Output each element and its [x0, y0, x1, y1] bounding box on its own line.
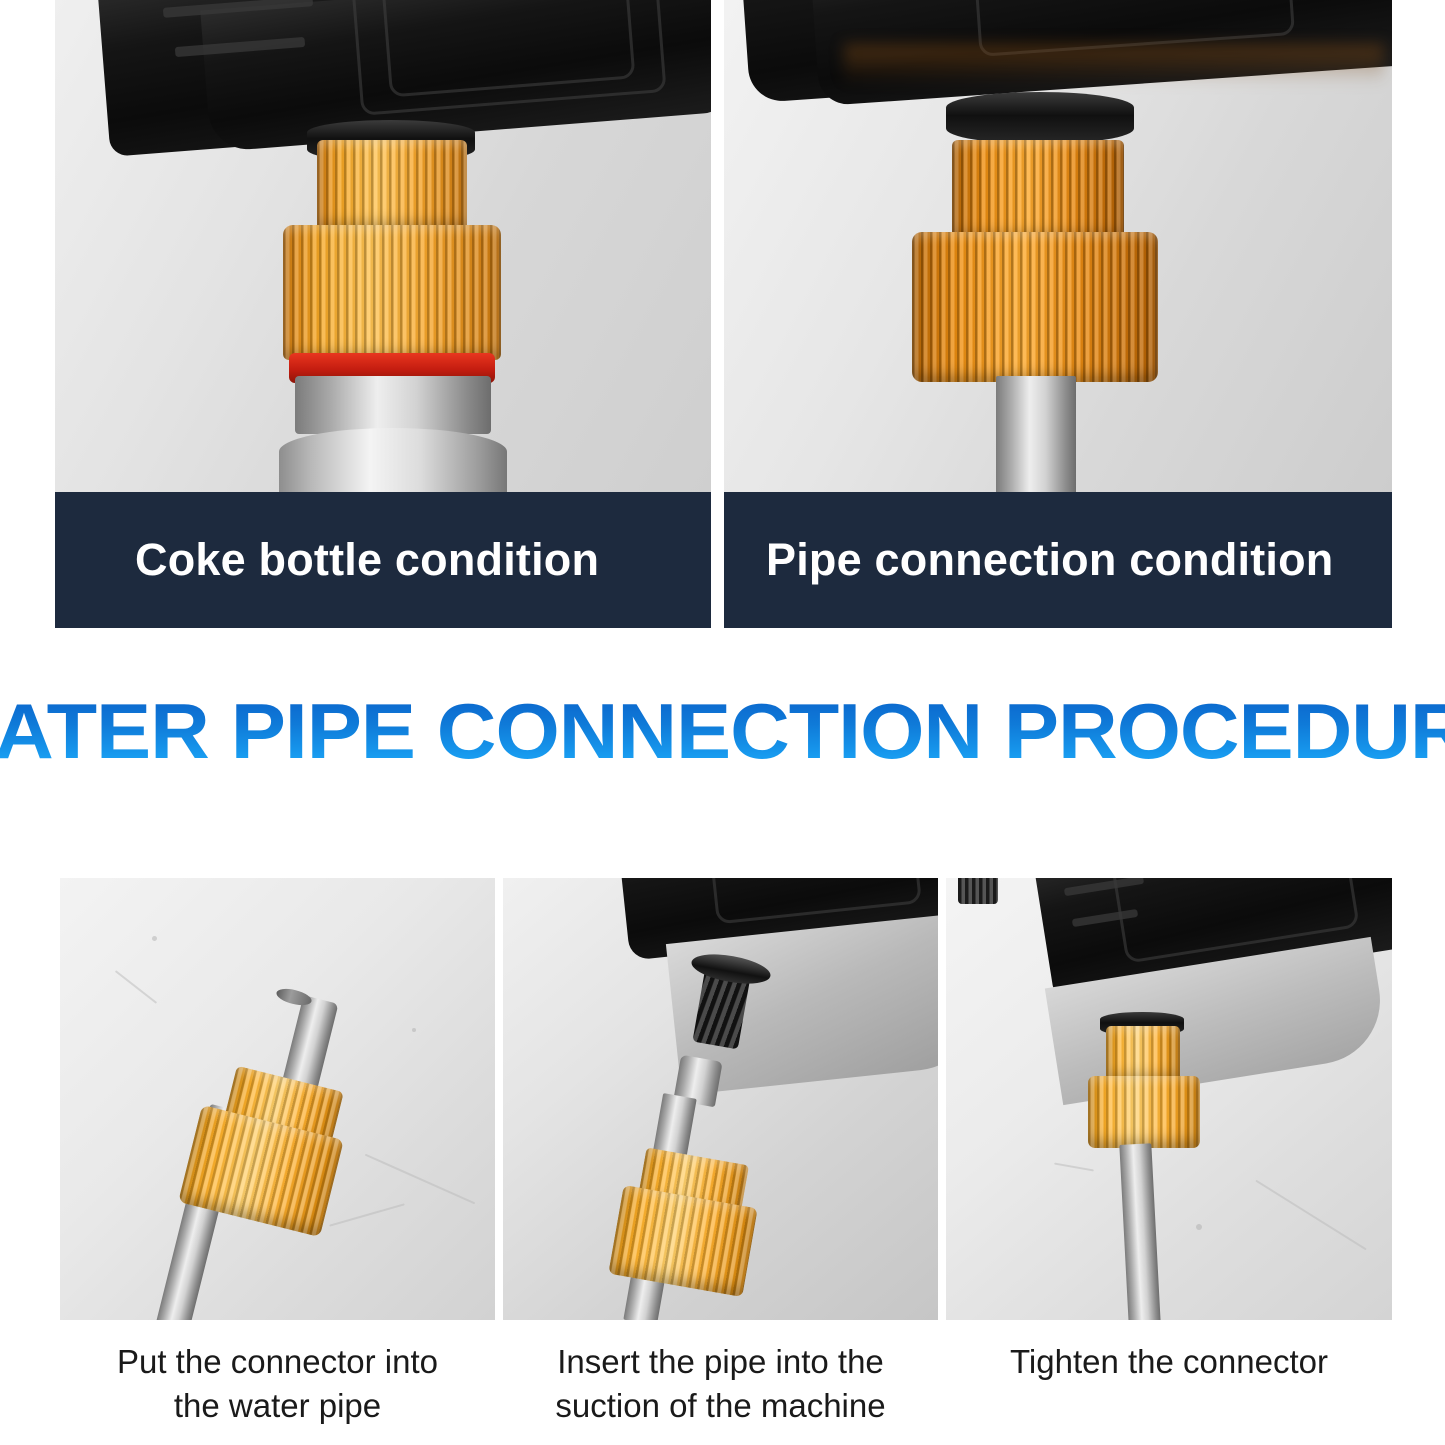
coke-bottle-shoulder: [279, 428, 507, 492]
photo-step-3: [946, 878, 1392, 1320]
caption-step-1-line2: the water pipe: [60, 1384, 495, 1428]
surface-speck: [152, 936, 157, 941]
caption-step-2-line2: suction of the machine: [503, 1384, 938, 1428]
caption-bar-pipe-connection: Pipe connection condition: [724, 492, 1392, 628]
step-card-1: Put the connector into the water pipe: [60, 878, 495, 1428]
caption-step-2: Insert the pipe into the suction of the …: [503, 1320, 938, 1428]
caption-pipe-connection-condition: Pipe connection condition: [766, 534, 1334, 586]
connector-lower-barrel: [283, 225, 501, 360]
section-heading-wrapper: WATER PIPE CONNECTION PROCEDURE: [0, 646, 1445, 816]
card-pipe-connection-condition: Pipe connection condition: [724, 0, 1392, 628]
connector-upper-nut: [317, 140, 467, 230]
procedure-steps-section: Put the connector into the water pipe In…: [0, 878, 1445, 1438]
connector-upper-nut: [952, 140, 1124, 240]
suction-pipe: [996, 376, 1076, 492]
connector-upper-nut: [1106, 1026, 1180, 1082]
step-card-2: Insert the pipe into the suction of the …: [503, 878, 938, 1428]
step-card-3: Tighten the connector: [946, 878, 1392, 1384]
connector-lower-barrel: [1088, 1076, 1200, 1148]
page-title: WATER PIPE CONNECTION PROCEDURE: [0, 686, 1445, 777]
surface-speck: [1196, 1224, 1202, 1230]
surface-speck: [412, 1028, 416, 1032]
connector-lower-barrel: [912, 232, 1158, 382]
rubber-collar: [946, 92, 1134, 144]
caption-step-2-line1: Insert the pipe into the: [557, 1343, 884, 1380]
caption-bar-coke-bottle: Coke bottle condition: [55, 492, 711, 628]
caption-step-1-line1: Put the connector into: [117, 1343, 438, 1380]
coke-bottle-neck: [295, 376, 491, 434]
photo-step-1: [60, 878, 495, 1320]
caption-coke-bottle-condition: Coke bottle condition: [135, 534, 599, 586]
machine-shadow-glow: [844, 44, 1384, 84]
caption-step-1: Put the connector into the water pipe: [60, 1320, 495, 1428]
caption-step-3-line1: Tighten the connector: [1010, 1343, 1328, 1380]
caption-step-3: Tighten the connector: [946, 1320, 1392, 1384]
machine-connector-knob: [958, 878, 998, 904]
photo-pipe-connection-condition: [724, 0, 1392, 492]
photo-step-2: [503, 878, 938, 1320]
card-coke-bottle-condition: Coke bottle condition: [55, 0, 711, 628]
top-comparison-section: Coke bottle condition Pipe connection co…: [0, 0, 1445, 630]
photo-coke-bottle-condition: [55, 0, 711, 492]
